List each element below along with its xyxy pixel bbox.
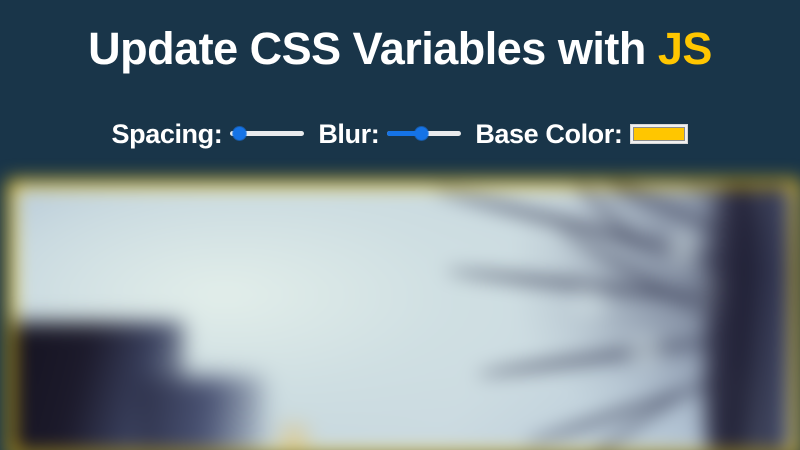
lamp-glow (272, 418, 316, 450)
blur-slider[interactable] (387, 125, 461, 143)
blur-control-group: Blur: (318, 118, 461, 150)
blurred-photo (14, 186, 794, 450)
spacing-slider[interactable] (230, 125, 304, 143)
tree-trunk-secondary (750, 186, 790, 450)
base-color-swatch-fill (633, 127, 685, 141)
base-color-control-group: Base Color: (475, 118, 688, 150)
page-title: Update CSS Variables with JS (0, 20, 800, 78)
base-color-picker[interactable] (630, 124, 688, 144)
demo-page: Update CSS Variables with JS Spacing: Bl… (0, 0, 800, 450)
blur-slider-thumb[interactable] (415, 127, 428, 140)
spacing-label: Spacing: (112, 118, 223, 150)
spacing-slider-thumb[interactable] (233, 127, 246, 140)
controls-bar: Spacing: Blur: Base Color: (0, 113, 800, 155)
page-title-text: Update CSS Variables with (88, 23, 658, 74)
blurred-photo-frame (8, 180, 800, 450)
blur-label: Blur: (318, 118, 379, 150)
sky-highlight (568, 286, 608, 320)
page-title-accent: JS (658, 23, 712, 74)
sky-highlight (668, 230, 698, 266)
sky-highlight (628, 336, 662, 366)
base-color-label: Base Color: (475, 118, 622, 150)
spacing-control-group: Spacing: (112, 118, 305, 150)
dark-structure-secondary (134, 377, 264, 450)
